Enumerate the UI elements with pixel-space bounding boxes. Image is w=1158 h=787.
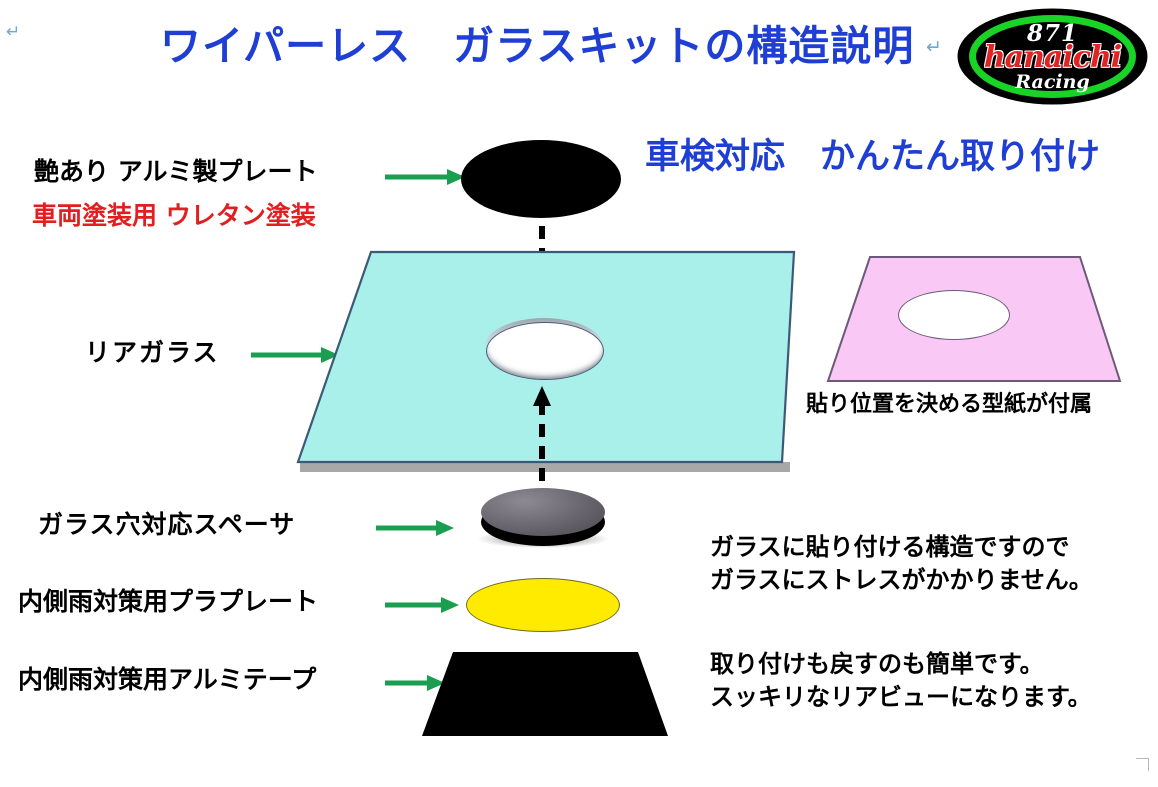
label-urethane-paint: 車両塗装用 ウレタン塗装 [32,196,316,232]
paragraph-install: 取り付けも戻すのも簡単です。 スッキリなリアビューになります。 [710,648,1092,714]
hanaichi-racing-logo: 871 hanaichi Racing [957,8,1148,105]
paragraph-structure-line-1: ガラスに貼り付ける構造ですので [710,531,1093,564]
label-plastic-plate: 内側雨対策用プラプレート [18,582,318,618]
label-alu-tape: 内側雨対策用アルミテープ [18,660,316,696]
paper-template-hole [898,290,1010,340]
label-spacer: ガラス穴対応スペーサ [38,505,295,541]
logo-sub: Racing [957,71,1148,93]
paragraph-install-line-1: 取り付けも戻すのも簡単です。 [710,648,1092,681]
arrow-to-alu-plate-icon [385,166,467,188]
paragraph-structure: ガラスに貼り付ける構造ですので ガラスにストレスがかかりません。 [710,531,1093,597]
caption-paper-template: 貼り位置を決める型紙が付属 [806,386,1092,418]
corner-mark [1136,758,1149,771]
slide-canvas: ↵ ワイパーレス ガラスキットの構造説明 ↵ 871 hanaichi Raci… [0,0,1158,787]
part-plastic-plate [466,578,620,632]
arrow-to-spacer-icon [376,517,456,539]
paragraph-install-line-2: スッキリなリアビューになります。 [710,681,1092,714]
label-rear-glass: リアガラス [85,333,220,369]
title-return-mark-icon: ↵ [926,36,942,58]
label-alu-plate: 艶あり アルミ製プレート [34,152,317,188]
part-spacer [481,488,605,536]
return-mark-icon: ↵ [6,22,20,42]
page-title: ワイパーレス ガラスキットの構造説明 [160,12,914,72]
paragraph-structure-line-2: ガラスにストレスがかかりません。 [710,564,1093,597]
logo-brand: hanaichi [957,40,1148,75]
part-alu-tape [420,650,670,738]
headline-text: 車検対応 かんたん取り付け [645,128,1100,179]
arrow-to-plastic-plate-icon [385,594,461,616]
glass-hole [486,322,604,380]
part-alu-plate [461,140,621,218]
